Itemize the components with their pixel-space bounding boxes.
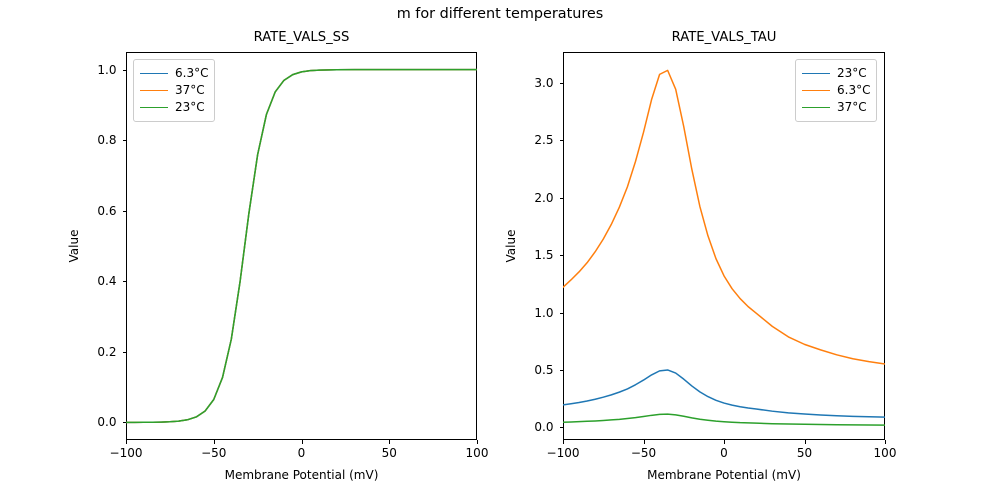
legend-label: 37°C	[837, 99, 867, 116]
legend-right: 23°C6.3°C37°C	[795, 59, 877, 122]
y-tick-mark	[560, 427, 564, 428]
y-tick-label: 0.0	[37, 415, 117, 429]
series-line	[126, 70, 477, 423]
legend-swatch-icon	[140, 107, 168, 108]
x-tick-label: −100	[523, 446, 603, 460]
y-tick-label: 1.0	[474, 306, 554, 320]
x-axis-label-right: Membrane Potential (mV)	[563, 468, 885, 482]
legend-swatch-icon	[802, 90, 830, 91]
legend-left: 6.3°C37°C23°C	[133, 59, 215, 122]
y-tick-label: 0.6	[37, 204, 117, 218]
y-tick-mark	[560, 255, 564, 256]
legend-entry: 6.3°C	[802, 82, 870, 99]
legend-swatch-icon	[802, 107, 830, 108]
legend-label: 23°C	[837, 65, 867, 82]
y-tick-mark	[123, 140, 127, 141]
y-axis-label-left: Value	[67, 213, 81, 279]
x-tick-mark	[389, 440, 390, 444]
series-line	[126, 70, 477, 423]
y-tick-label: 0.5	[474, 363, 554, 377]
y-tick-label: 0.4	[37, 274, 117, 288]
y-tick-mark	[560, 83, 564, 84]
x-tick-mark	[126, 440, 127, 444]
legend-entry: 23°C	[802, 65, 870, 82]
y-tick-label: 0.0	[474, 420, 554, 434]
y-tick-mark	[123, 422, 127, 423]
legend-entry: 37°C	[802, 99, 870, 116]
y-tick-mark	[123, 211, 127, 212]
x-tick-mark	[477, 440, 478, 444]
legend-label: 6.3°C	[837, 82, 870, 99]
legend-entry: 23°C	[140, 99, 208, 116]
x-tick-label: 0	[262, 446, 342, 460]
x-tick-mark	[214, 440, 215, 444]
y-tick-label: 0.2	[37, 345, 117, 359]
x-tick-label: 0	[684, 446, 764, 460]
series-line	[563, 370, 885, 417]
legend-label: 37°C	[175, 82, 205, 99]
y-axis-label-right: Value	[504, 213, 518, 279]
y-tick-mark	[123, 281, 127, 282]
legend-label: 23°C	[175, 99, 205, 116]
x-tick-label: −100	[86, 446, 166, 460]
x-tick-label: 50	[349, 446, 429, 460]
x-tick-label: −50	[174, 446, 254, 460]
x-tick-label: 100	[845, 446, 925, 460]
subplot-title-right: RATE_VALS_TAU	[563, 30, 885, 45]
x-tick-mark	[885, 440, 886, 444]
y-tick-mark	[560, 198, 564, 199]
x-tick-label: 50	[765, 446, 845, 460]
x-tick-mark	[302, 440, 303, 444]
x-tick-mark	[805, 440, 806, 444]
legend-entry: 6.3°C	[140, 65, 208, 82]
y-tick-label: 1.5	[474, 248, 554, 262]
y-tick-label: 2.5	[474, 133, 554, 147]
y-tick-label: 2.0	[474, 191, 554, 205]
x-axis-label-left: Membrane Potential (mV)	[126, 468, 477, 482]
x-tick-label: 100	[437, 446, 517, 460]
subplot-title-left: RATE_VALS_SS	[126, 30, 477, 45]
y-tick-mark	[123, 70, 127, 71]
legend-label: 6.3°C	[175, 65, 208, 82]
y-tick-label: 1.0	[37, 63, 117, 77]
y-tick-mark	[560, 370, 564, 371]
matplotlib-figure: m for different temperatures RATE_VALS_S…	[0, 0, 1000, 500]
x-tick-mark	[563, 440, 564, 444]
y-tick-label: 0.8	[37, 133, 117, 147]
y-tick-label: 3.0	[474, 76, 554, 90]
y-tick-mark	[560, 313, 564, 314]
y-tick-mark	[123, 352, 127, 353]
y-tick-mark	[560, 140, 564, 141]
series-line	[126, 70, 477, 423]
x-tick-label: −50	[604, 446, 684, 460]
figure-suptitle: m for different temperatures	[0, 5, 1000, 23]
legend-swatch-icon	[802, 73, 830, 74]
legend-swatch-icon	[140, 90, 168, 91]
x-tick-mark	[724, 440, 725, 444]
legend-entry: 37°C	[140, 82, 208, 99]
x-tick-mark	[644, 440, 645, 444]
legend-swatch-icon	[140, 73, 168, 74]
